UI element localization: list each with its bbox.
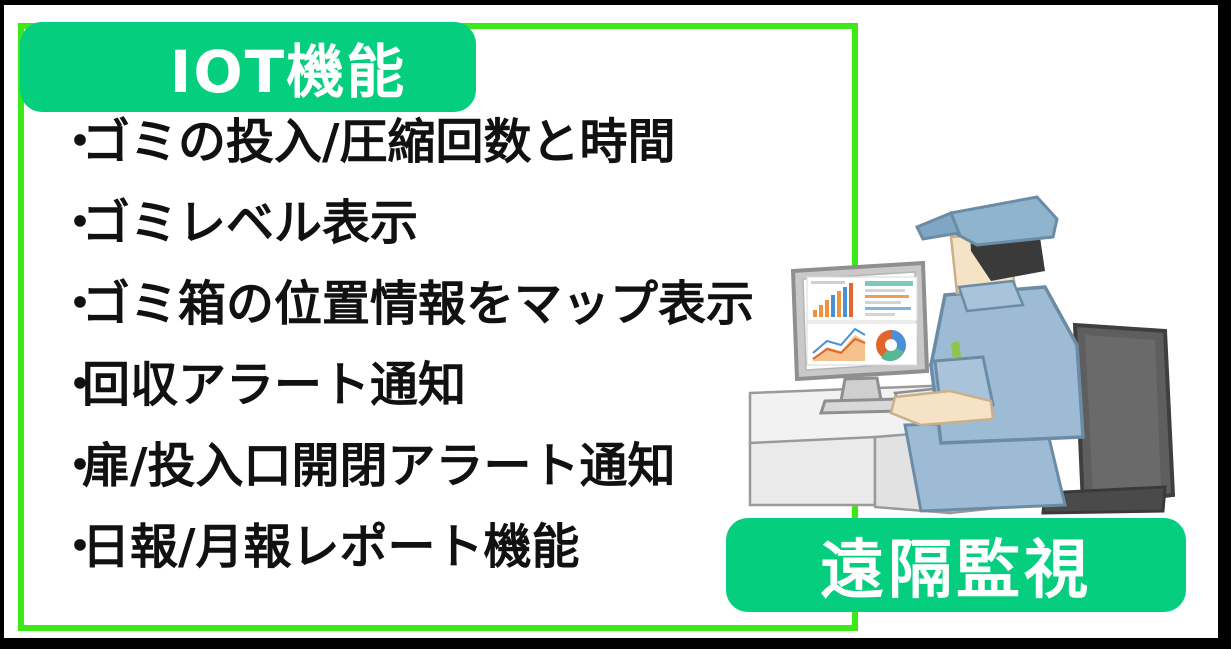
feature-label: ゴミ箱の位置情報をマップ表示 (82, 280, 754, 328)
iot-feature-list: ・ ゴミの投入/圧縮回数と時間 ・ ゴミレベル表示 ・ ゴミ箱の位置情報をマップ… (56, 118, 796, 604)
bullet-icon: ・ (56, 280, 82, 328)
operator-at-monitoring-desk-illustration (745, 175, 1215, 565)
slide-root: IOT機能 ・ ゴミの投入/圧縮回数と時間 ・ ゴミレベル表示 ・ ゴミ箱の位置… (0, 0, 1231, 649)
left-black-border (0, 0, 4, 649)
list-item: ・ 回収アラート通知 (56, 361, 796, 442)
feature-label: ゴミレベル表示 (82, 199, 418, 247)
feature-label: 日報/月報レポート機能 (82, 523, 580, 571)
right-black-border (1218, 0, 1231, 649)
list-item: ・ ゴミの投入/圧縮回数と時間 (56, 118, 796, 199)
iot-badge-label: IOT機能 (170, 25, 406, 109)
bullet-icon: ・ (56, 442, 82, 490)
bullet-icon: ・ (56, 361, 82, 409)
list-item: ・ 扉/投入口開閉アラート通知 (56, 442, 796, 523)
bottom-black-border (0, 638, 1231, 649)
list-item: ・ 日報/月報レポート機能 (56, 523, 796, 604)
top-black-border (0, 0, 1231, 5)
feature-label: 扉/投入口開閉アラート通知 (82, 442, 676, 490)
feature-label: ゴミの投入/圧縮回数と時間 (82, 118, 676, 166)
iot-feature-badge: IOT機能 (20, 22, 476, 112)
bullet-icon: ・ (56, 199, 82, 247)
list-item: ・ ゴミ箱の位置情報をマップ表示 (56, 280, 796, 361)
dashboard-widgets-icon (807, 277, 917, 365)
feature-label: 回収アラート通知 (82, 361, 466, 409)
bullet-icon: ・ (56, 118, 82, 166)
remote-monitoring-badge: 遠隔監視 (726, 518, 1186, 612)
remote-badge-label: 遠隔監視 (820, 519, 1092, 611)
bullet-icon: ・ (56, 523, 82, 571)
list-item: ・ ゴミレベル表示 (56, 199, 796, 280)
